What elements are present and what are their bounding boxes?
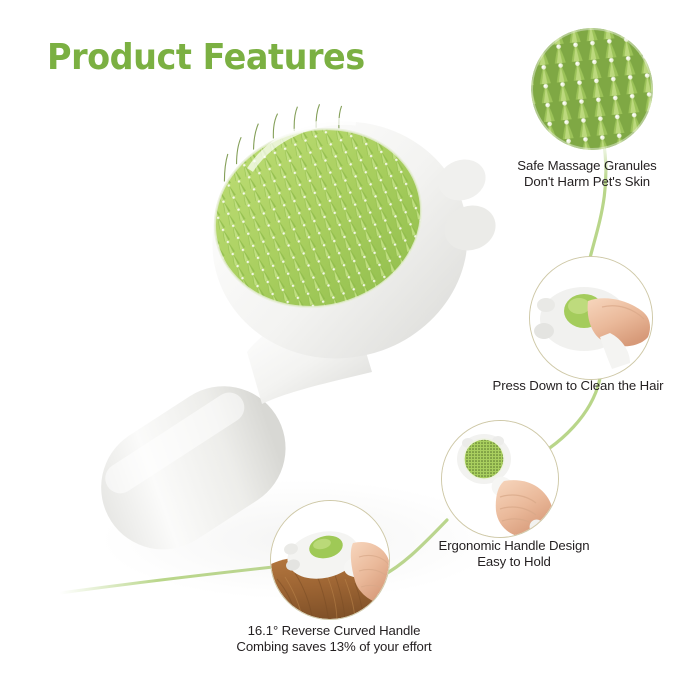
callout-press-to-clean xyxy=(529,256,653,380)
hand-pressing-button-photo xyxy=(530,257,652,379)
caption-press-to-clean: Press Down to Clean the Hair xyxy=(478,378,678,394)
callout-ergonomic-handle xyxy=(441,420,559,538)
caption-safe-massage-granules: Safe Massage Granules Don't Harm Pet's S… xyxy=(492,158,679,190)
caption-reverse-curved-handle: 16.1° Reverse Curved Handle Combing save… xyxy=(196,623,472,655)
callout-safe-massage-granules xyxy=(531,28,653,150)
infographic-canvas: Product Features Safe Massage Granules D… xyxy=(0,0,679,679)
page-title: Product Features xyxy=(47,40,365,76)
caption-ergonomic-handle: Ergonomic Handle Design Easy to Hold xyxy=(408,538,620,570)
hand-holding-brush-photo xyxy=(442,421,558,537)
brushing-pet-fur-photo xyxy=(271,501,389,619)
callout-reverse-curved-handle xyxy=(270,500,390,620)
granule-closeup-photo xyxy=(531,28,653,150)
